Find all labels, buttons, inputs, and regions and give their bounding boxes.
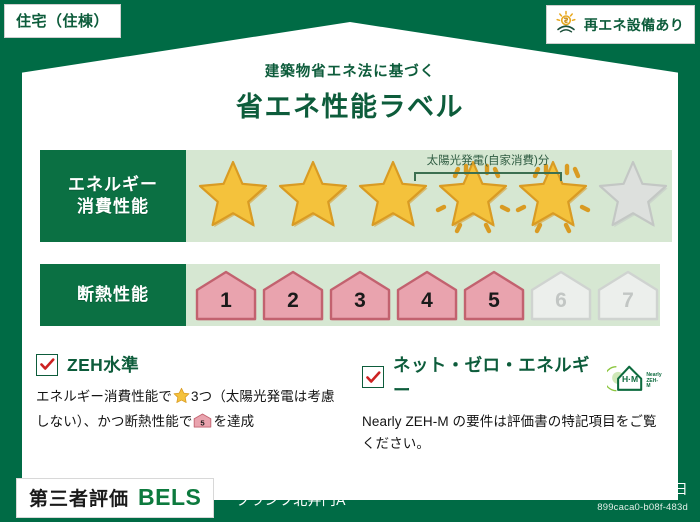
footer-bar: 第三者評価 BELS クランツ北井門A 評価日 2025年7月3日 899cac… — [0, 470, 700, 522]
building-name: クランツ北井門A — [236, 490, 346, 510]
insulation-grade-1: 1 — [194, 269, 258, 321]
star-rating — [186, 157, 672, 235]
svg-text:H·M: H·M — [622, 374, 638, 384]
insulation-rating-area: 1234567 — [186, 264, 660, 326]
title-block: 建築物省エネ法に基づく 省エネ性能ラベル — [0, 60, 700, 124]
insulation-performance-row: 断熱性能 1234567 — [40, 264, 660, 326]
bels-ja-label: 第三者評価 — [29, 484, 129, 511]
insulation-grade-7: 7 — [596, 269, 660, 321]
energy-label-line1: エネルギー — [68, 174, 158, 196]
check-icon — [40, 358, 55, 371]
net-zero-header: ネット・ゼロ・エネルギー H·M Nearly ZEH-M — [362, 352, 662, 402]
net-zero-title: ネット・ゼロ・エネルギー — [393, 352, 594, 402]
zeh-body-part1: エネルギー消費性能で — [36, 389, 172, 404]
page-title: 省エネ性能ラベル — [0, 85, 700, 124]
insulation-grade-4: 4 — [395, 269, 459, 321]
insulation-label-text: 断熱性能 — [77, 284, 149, 306]
insulation-performance-label: 断熱性能 — [40, 264, 186, 326]
insulation-grade-6: 6 — [529, 269, 593, 321]
star-6 — [594, 157, 672, 235]
insulation-grade-5: 5 — [462, 269, 526, 321]
renewable-badge-label: 再エネ設備あり — [584, 15, 684, 35]
energy-rating-area: 太陽光発電(自家消費)分 — [186, 150, 672, 242]
house-type-tag-label: 住宅（住棟） — [16, 13, 109, 30]
house-type-tag: 住宅（住棟） — [4, 4, 121, 38]
bels-en-label: BELS — [138, 484, 201, 511]
zeh-m-logo: H·M Nearly ZEH-M — [607, 362, 662, 392]
check-icon — [366, 371, 381, 384]
star-5 — [514, 157, 592, 235]
energy-consumption-row: エネルギー 消費性能 太陽光発電(自家消費)分 — [40, 150, 660, 242]
bels-certification-plate: 第三者評価 BELS — [16, 478, 214, 518]
title-subtitle: 建築物省エネ法に基づく — [0, 60, 700, 81]
insulation-grade-inline-badge: 5 — [193, 412, 212, 436]
star-2 — [274, 157, 352, 235]
energy-performance-label: 住宅（住棟） 再エネ設備あり 建築物省エネ法に基づく 省エネ性能ラベル — [0, 0, 700, 522]
zeh-standard-checkbox — [36, 354, 58, 376]
sun-solar-icon — [554, 10, 578, 39]
insulation-grade-2: 2 — [261, 269, 325, 321]
star-4 — [434, 157, 512, 235]
star-icon — [173, 387, 190, 411]
zeh-logo-caption: Nearly ZEH-M — [646, 373, 662, 392]
zeh-standard-body: エネルギー消費性能で3つ（太陽光発電は考慮しない）、かつ断熱性能で5を達成 — [36, 386, 336, 436]
energy-consumption-label: エネルギー 消費性能 — [40, 150, 186, 242]
zeh-standard-note: ZEH水準 エネルギー消費性能で3つ（太陽光発電は考慮しない）、かつ断熱性能で5… — [36, 352, 336, 436]
zeh-logo-caption-line2: ZEH-M — [646, 378, 658, 389]
net-zero-energy-note: ネット・ゼロ・エネルギー H·M Nearly ZEH-M Nearly ZEH… — [362, 352, 662, 455]
zeh-house-icon: H·M — [607, 362, 645, 392]
evaluation-id: 899caca0-b08f-483d — [549, 502, 688, 513]
zeh-body-part3: を達成 — [213, 414, 254, 429]
zeh-standard-title: ZEH水準 — [67, 352, 139, 377]
insulation-grade-3: 3 — [328, 269, 392, 321]
insulation-grade-scale: 1234567 — [186, 269, 660, 321]
svg-text:5: 5 — [201, 418, 206, 427]
star-3 — [354, 157, 432, 235]
evaluation-date: 評価日 2025年7月3日 — [549, 479, 688, 499]
zeh-standard-header: ZEH水準 — [36, 352, 336, 377]
star-1 — [194, 157, 272, 235]
energy-label-line2: 消費性能 — [77, 196, 149, 218]
evaluation-info: 評価日 2025年7月3日 899caca0-b08f-483d — [549, 479, 688, 513]
net-zero-checkbox — [362, 366, 384, 388]
renewable-energy-badge: 再エネ設備あり — [546, 5, 695, 44]
net-zero-body: Nearly ZEH-M の要件は評価書の特記項目をご覧ください。 — [362, 411, 662, 455]
